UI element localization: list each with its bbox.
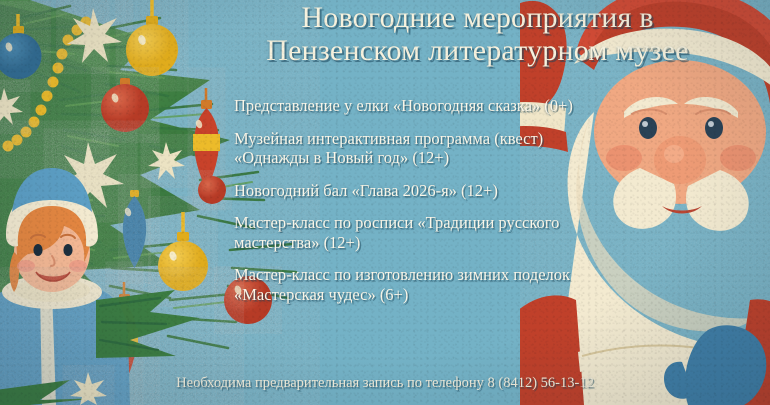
- ornament-ball-red: [224, 276, 272, 324]
- mitten-red: [520, 1, 568, 152]
- ornament-ball-red: [198, 176, 226, 204]
- right-illustration-ded-moroz: [520, 0, 770, 405]
- poster-canvas: Новогодние мероприятия в Пензенском лите…: [0, 0, 770, 405]
- left-illustration-christmas-tree: [0, 0, 320, 405]
